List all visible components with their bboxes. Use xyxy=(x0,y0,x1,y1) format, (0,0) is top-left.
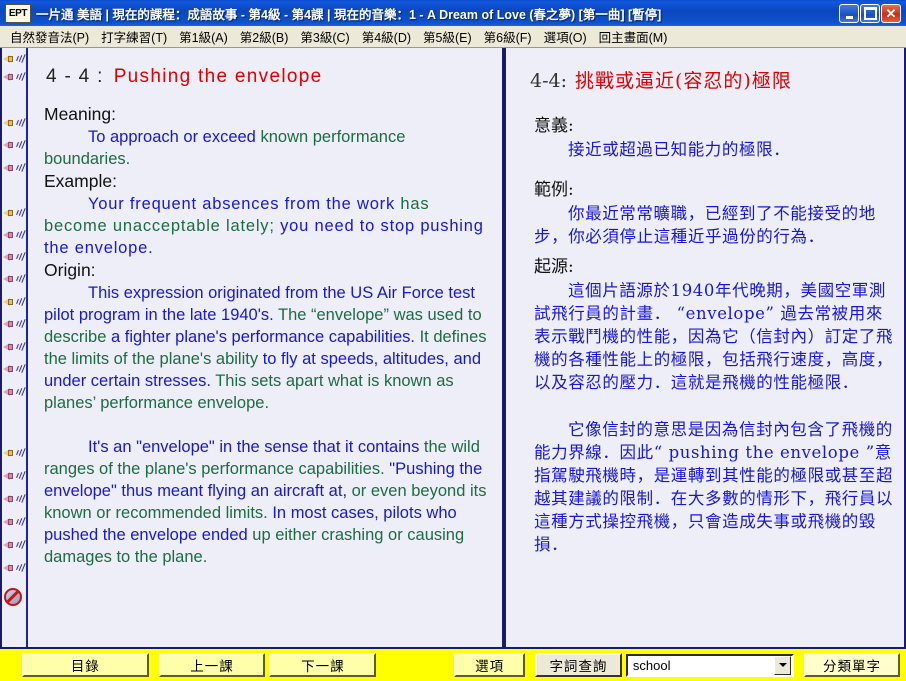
speaker-icon xyxy=(3,162,16,174)
speaker-icon xyxy=(3,493,16,505)
table-of-contents-button[interactable]: 目錄 xyxy=(22,653,149,677)
play-audio-icon[interactable] xyxy=(3,385,27,400)
chinese-meaning-text: 接近或超過已知能力的極限． xyxy=(534,138,896,161)
sound-waves-icon xyxy=(16,517,26,528)
play-audio-icon[interactable] xyxy=(3,492,27,507)
chinese-heading: 4-4:挑戰或逼近(容忍的)極限 xyxy=(530,66,896,93)
play-audio-icon[interactable] xyxy=(3,340,27,355)
menu-item-level-3[interactable]: 第3級(C) xyxy=(294,25,355,48)
menu-item-main-screen[interactable]: 回主畫面(M) xyxy=(593,25,674,48)
speaker-icon xyxy=(3,341,16,353)
origin-p1-blue-2: a fighter plane's performance capabiliti… xyxy=(111,328,415,346)
options-button[interactable]: 選項 xyxy=(454,653,525,677)
speaker-icon xyxy=(3,71,16,83)
pane-divider xyxy=(500,48,508,647)
speaker-icon xyxy=(3,447,16,459)
speaker-icon xyxy=(3,229,16,241)
origin-p2-blue-1: It's an "envelope" in the sense that it … xyxy=(88,438,419,456)
play-audio-icon[interactable] xyxy=(3,515,27,530)
sound-waves-icon xyxy=(16,319,26,330)
menu-bar: 自然發音法(P) 打字練習(T) 第1級(A) 第2級(B) 第3級(C) 第4… xyxy=(0,26,906,48)
speaker-icon xyxy=(3,318,16,330)
window-title: 一片通 美語 | 現在的課程：成語故事 - 第4級 - 第4課 | 現在的音樂：… xyxy=(36,4,839,23)
play-audio-icon[interactable] xyxy=(3,138,27,153)
speaker-icon xyxy=(3,296,16,308)
sound-waves-icon xyxy=(16,364,26,375)
play-audio-icon[interactable] xyxy=(3,272,27,287)
menu-item-typing[interactable]: 打字練習(T) xyxy=(95,25,173,48)
play-audio-icon[interactable] xyxy=(3,446,27,461)
english-lesson-number: 4 - 4 : xyxy=(46,66,104,87)
origin-paragraph-1: This expression originated from the US A… xyxy=(44,282,492,414)
english-heading: 4 - 4 :Pushing the envelope xyxy=(46,66,492,88)
speaker-icon xyxy=(3,386,16,398)
menu-item-level-1[interactable]: 第1級(A) xyxy=(173,25,234,48)
play-audio-icon[interactable] xyxy=(3,116,27,131)
sound-waves-icon xyxy=(16,230,26,241)
speaker-icon xyxy=(3,273,16,285)
sound-waves-icon xyxy=(16,342,26,353)
chinese-example-text: 你最近常常曠職，已經到了不能接受的地步，你必須停止這種近乎過份的行為． xyxy=(534,202,896,248)
english-lesson-title: Pushing the envelope xyxy=(114,66,323,87)
bottom-toolbar: 目錄 上一課 下一課 選項 字詞查詢 school 分類單字 xyxy=(0,647,906,681)
sound-waves-icon xyxy=(16,208,26,219)
sound-waves-icon xyxy=(16,163,26,174)
sound-waves-icon xyxy=(16,54,26,65)
close-button[interactable]: ✕ xyxy=(881,4,901,23)
window-controls: ✕ xyxy=(839,4,901,23)
speaker-icon xyxy=(3,363,16,375)
sound-waves-icon xyxy=(16,494,26,505)
previous-lesson-button[interactable]: 上一課 xyxy=(159,653,266,677)
sound-waves-icon xyxy=(16,72,26,83)
chinese-origin-paragraph-1: 這個片語源於1940年代晚期，美國空軍測試飛行員的計畫． “envelope” … xyxy=(534,279,896,394)
menu-item-options[interactable]: 選項(O) xyxy=(538,25,593,48)
sound-waves-icon xyxy=(16,387,26,398)
menu-item-level-6[interactable]: 第6級(F) xyxy=(478,25,538,48)
play-audio-icon[interactable] xyxy=(3,317,27,332)
title-bar: EPT 一片通 美語 | 現在的課程：成語故事 - 第4級 - 第4課 | 現在… xyxy=(0,0,906,26)
play-audio-icon[interactable] xyxy=(3,561,27,576)
play-audio-icon[interactable] xyxy=(3,206,27,221)
play-audio-icon[interactable] xyxy=(3,52,27,67)
word-lookup-value[interactable]: school xyxy=(628,658,774,673)
speaker-icon xyxy=(3,470,16,482)
stop-audio-icon[interactable] xyxy=(4,588,22,606)
content-area: 4 - 4 :Pushing the envelope Meaning: To … xyxy=(0,48,906,647)
play-audio-icon[interactable] xyxy=(3,469,27,484)
next-lesson-button[interactable]: 下一課 xyxy=(269,653,376,677)
sound-waves-icon xyxy=(16,540,26,551)
origin-label: Origin: xyxy=(44,260,492,281)
audio-icon-rail xyxy=(2,48,28,647)
speaker-icon xyxy=(3,516,16,528)
sound-waves-icon xyxy=(16,252,26,263)
chinese-pane: 4-4:挑戰或逼近(容忍的)極限 意義: 接近或超過已知能力的極限． 範例: 你… xyxy=(508,48,904,647)
sound-waves-icon xyxy=(16,274,26,285)
sound-waves-icon xyxy=(16,563,26,574)
word-lookup-button[interactable]: 字詞查詢 xyxy=(535,653,622,677)
speaker-icon xyxy=(3,53,16,65)
play-audio-icon[interactable] xyxy=(3,161,27,176)
meaning-label: Meaning: xyxy=(44,104,492,125)
chinese-lesson-number: 4-4: xyxy=(530,70,567,92)
speaker-icon xyxy=(3,117,16,129)
example-paragraph: Your frequent absences from the work has… xyxy=(44,193,492,259)
english-pane: 4 - 4 :Pushing the envelope Meaning: To … xyxy=(28,48,500,647)
sound-waves-icon xyxy=(16,448,26,459)
play-audio-icon[interactable] xyxy=(3,538,27,553)
origin-paragraph-2: It's an "envelope" in the sense that it … xyxy=(44,436,492,568)
application-window: EPT 一片通 美語 | 現在的課程：成語故事 - 第4級 - 第4課 | 現在… xyxy=(0,0,906,681)
menu-item-level-4[interactable]: 第4級(D) xyxy=(356,25,417,48)
sound-waves-icon xyxy=(16,297,26,308)
chinese-origin-label: 起源: xyxy=(534,252,896,277)
word-lookup-combobox[interactable]: school xyxy=(626,654,794,677)
play-audio-icon[interactable] xyxy=(3,362,27,377)
meaning-blue-text: To approach or exceed xyxy=(88,128,256,146)
meaning-paragraph: To approach or exceed known performance … xyxy=(44,126,492,170)
chinese-example-label: 範例: xyxy=(534,175,896,200)
chinese-meaning-label: 意義: xyxy=(534,111,896,136)
speaker-icon xyxy=(3,251,16,263)
play-audio-icon[interactable] xyxy=(3,228,27,243)
ept-logo-icon: EPT xyxy=(5,4,31,23)
example-label: Example: xyxy=(44,171,492,192)
speaker-icon xyxy=(3,139,16,151)
play-audio-icon[interactable] xyxy=(3,250,27,265)
play-audio-icon[interactable] xyxy=(3,70,27,85)
minimize-button[interactable] xyxy=(839,4,859,23)
menu-item-level-2[interactable]: 第2級(B) xyxy=(234,25,295,48)
maximize-button[interactable] xyxy=(860,4,880,23)
sound-waves-icon xyxy=(16,471,26,482)
menu-item-phonics[interactable]: 自然發音法(P) xyxy=(4,25,95,48)
chinese-origin-paragraph-2: 它像信封的意思是因為信封內包含了飛機的能力界線．因此“ pushing the … xyxy=(534,418,896,556)
speaker-icon xyxy=(3,207,16,219)
menu-item-level-5[interactable]: 第5級(E) xyxy=(417,25,478,48)
speaker-icon xyxy=(3,562,16,574)
category-words-button[interactable]: 分類單字 xyxy=(804,653,900,677)
play-audio-icon[interactable] xyxy=(3,295,27,310)
sound-waves-icon xyxy=(16,140,26,151)
chevron-down-icon[interactable] xyxy=(774,656,791,675)
speaker-icon xyxy=(3,539,16,551)
example-blue-1: Your frequent absences from the work xyxy=(88,195,395,213)
close-icon: ✕ xyxy=(886,7,897,20)
sound-waves-icon xyxy=(16,118,26,129)
chinese-lesson-title: 挑戰或逼近(容忍的)極限 xyxy=(575,70,792,92)
